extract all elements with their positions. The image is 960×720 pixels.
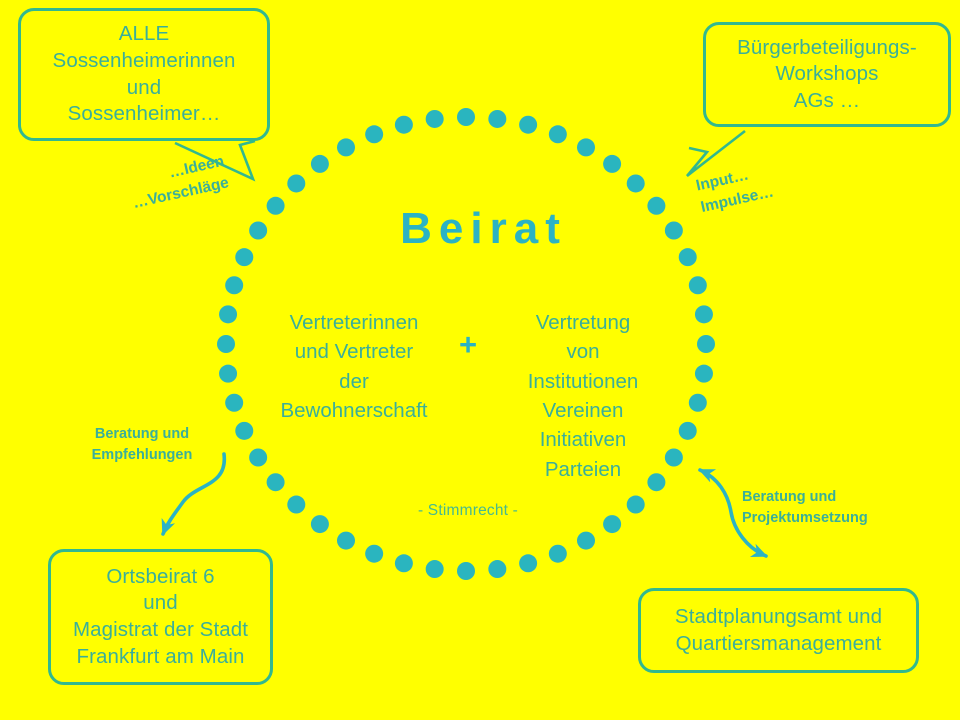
- council-residents-line: Bewohnerschaft: [258, 396, 450, 425]
- annotation-beratung-projektumsetzung: Beratung und Projektumsetzung: [742, 487, 922, 528]
- ring-dot: [488, 560, 506, 578]
- council-institutions-line: Parteien: [487, 455, 679, 484]
- ring-dot: [603, 155, 621, 173]
- ring-dot: [689, 276, 707, 294]
- annotation-beratung-empfehlungen: Beratung und Empfehlungen: [68, 424, 216, 465]
- ring-dot: [365, 545, 383, 563]
- ring-dot: [219, 365, 237, 383]
- ring-dot: [225, 394, 243, 412]
- ring-dot: [577, 532, 595, 550]
- annotation-beratung-projektumsetzung-line: Beratung und: [742, 487, 922, 508]
- ring-dot: [287, 174, 305, 192]
- ring-dot: [395, 554, 413, 572]
- ring-dot: [577, 138, 595, 156]
- ring-dot: [267, 473, 285, 491]
- ring-dot: [519, 116, 537, 134]
- bubble-citizens-line: und: [27, 75, 261, 102]
- bubble-citizens-line: Sossenheimerinnen: [27, 48, 261, 75]
- council-residents-column: Vertreterinnen und Vertreter der Bewohne…: [258, 308, 450, 425]
- ring-dot: [695, 305, 713, 323]
- ring-dot: [337, 532, 355, 550]
- ring-dot: [695, 365, 713, 383]
- speech-bubble-citizens: ALLE Sossenheimerinnen und Sossenheimer…: [18, 8, 270, 141]
- box-stadtplanungsamt-quartiersmanagement: Stadtplanungsamt und Quartiersmanagement: [638, 588, 919, 673]
- ring-dot: [488, 110, 506, 128]
- ring-dot: [337, 138, 355, 156]
- ring-dot: [457, 562, 475, 580]
- ring-dot: [365, 125, 383, 143]
- ring-dot: [426, 560, 444, 578]
- ring-dot: [549, 125, 567, 143]
- council-residents-line: der: [258, 367, 450, 396]
- annotation-beratung-empfehlungen-line: Beratung und: [68, 424, 216, 445]
- bubble-workshops-line: Workshops: [712, 61, 942, 88]
- council-institutions-line: Initiativen: [487, 425, 679, 454]
- ring-dot: [679, 422, 697, 440]
- ring-dot: [249, 449, 267, 467]
- council-institutions-line: von: [487, 337, 679, 366]
- speech-bubble-workshops: Bürgerbeteiligungs- Workshops AGs …: [703, 22, 951, 127]
- box-ortsbeirat-line: und: [57, 590, 264, 617]
- ring-dot: [311, 515, 329, 533]
- ring-dot: [395, 116, 413, 134]
- box-stadtplanung-line: Stadtplanungsamt und: [647, 604, 910, 631]
- ring-dot: [603, 515, 621, 533]
- box-stadtplanung-line: Quartiersmanagement: [647, 631, 910, 658]
- council-institutions-line: Vereinen: [487, 396, 679, 425]
- council-institutions-column: Vertretung von Institutionen Vereinen In…: [487, 308, 679, 484]
- annotation-beratung-projektumsetzung-line: Projektumsetzung: [742, 508, 922, 529]
- ring-dot: [235, 422, 253, 440]
- council-residents-line: Vertreterinnen: [258, 308, 450, 337]
- ring-dot: [697, 335, 715, 353]
- bubble-citizens-line: Sossenheimer…: [27, 101, 261, 128]
- ring-dot: [219, 305, 237, 323]
- box-ortsbeirat-magistrat: Ortsbeirat 6 und Magistrat der Stadt Fra…: [48, 549, 273, 685]
- ring-dot: [217, 335, 235, 353]
- bubble-citizens-line: ALLE: [27, 21, 261, 48]
- bubble-workshops-line: AGs …: [712, 88, 942, 115]
- box-ortsbeirat-line: Magistrat der Stadt: [57, 617, 264, 644]
- ring-dot: [627, 174, 645, 192]
- arrow-curved-down-left-icon: [163, 454, 224, 534]
- ring-dot: [689, 394, 707, 412]
- voting-rights-note: - Stimmrecht -: [368, 502, 568, 520]
- diagram-canvas: Beirat Vertreterinnen und Vertreter der …: [0, 0, 960, 720]
- box-ortsbeirat-line: Ortsbeirat 6: [57, 564, 264, 591]
- ring-dot: [225, 276, 243, 294]
- council-residents-line: und Vertreter: [258, 337, 450, 366]
- ring-dot: [519, 554, 537, 572]
- annotation-beratung-empfehlungen-line: Empfehlungen: [68, 445, 216, 466]
- ring-dot: [457, 108, 475, 126]
- ring-dot: [311, 155, 329, 173]
- ring-dot: [287, 496, 305, 514]
- council-institutions-line: Institutionen: [487, 367, 679, 396]
- ring-dot: [426, 110, 444, 128]
- bubble-workshops-line: Bürgerbeteiligungs-: [712, 35, 942, 62]
- ring-dot: [627, 496, 645, 514]
- box-ortsbeirat-line: Frankfurt am Main: [57, 644, 264, 671]
- ring-dot: [549, 545, 567, 563]
- council-institutions-line: Vertretung: [487, 308, 679, 337]
